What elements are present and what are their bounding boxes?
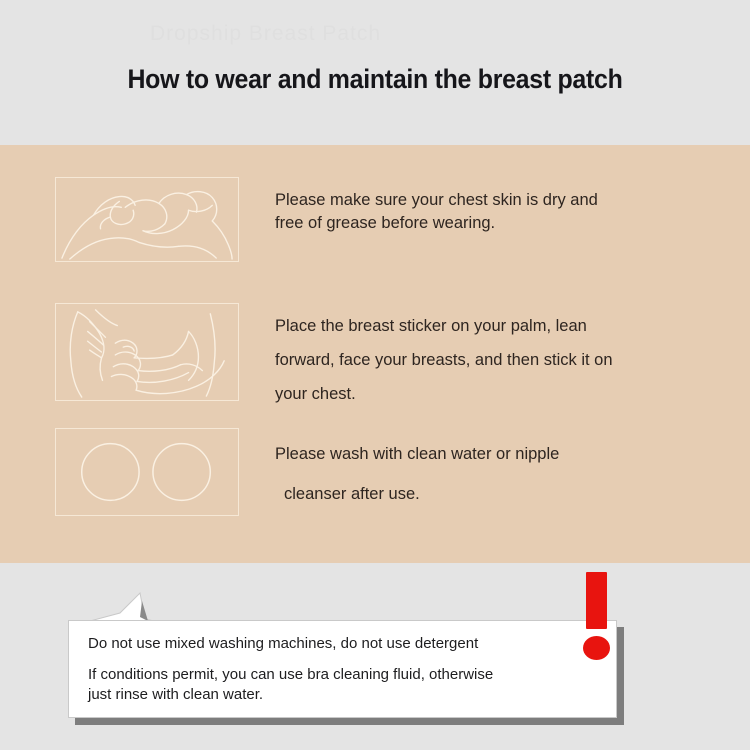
step-figure-frame <box>55 177 239 262</box>
step-description: Please wash with clean water or nipple c… <box>275 434 700 514</box>
step-line: free of grease before wearing. <box>275 212 700 235</box>
page-title: How to wear and maintain the breast patc… <box>23 64 728 95</box>
step-line: Please make sure your chest skin is dry … <box>275 189 700 212</box>
exclamation-mark-icon <box>583 572 613 662</box>
header-section: Dropship Breast Patch How to wear and ma… <box>0 0 750 145</box>
step-description: Place the breast sticker on your palm, l… <box>275 309 700 411</box>
exclamation-dot <box>583 636 610 660</box>
steps-section: Please make sure your chest skin is dry … <box>0 145 750 563</box>
step-line: forward, face your breasts, and then sti… <box>275 343 700 377</box>
step-figure-frame <box>55 428 239 516</box>
step-line: Place the breast sticker on your palm, l… <box>275 309 700 343</box>
lean-forward-applying-illustration <box>56 304 238 400</box>
callout-body: Do not use mixed washing machines, do no… <box>68 620 617 718</box>
warning-text: Do not use mixed washing machines, do no… <box>88 635 593 705</box>
step-line: your chest. <box>275 377 700 411</box>
step-description: Please make sure your chest skin is dry … <box>275 189 700 235</box>
callout-tail <box>90 591 156 622</box>
step-line: Please wash with clean water or nipple <box>275 434 700 474</box>
step-line: cleanser after use. <box>275 474 700 514</box>
warning-line: If conditions permit, you can use bra cl… <box>88 665 593 685</box>
warning-section: Do not use mixed washing machines, do no… <box>0 563 750 750</box>
exclamation-bar <box>586 572 607 629</box>
background-watermark: Dropship Breast Patch <box>150 22 600 66</box>
two-patches-washing-illustration <box>56 429 238 515</box>
hands-applying-patch-illustration <box>56 178 238 261</box>
infographic-page: Dropship Breast Patch How to wear and ma… <box>0 0 750 750</box>
warning-line: just rinse with clean water. <box>88 685 593 705</box>
warning-callout: Do not use mixed washing machines, do no… <box>68 620 617 718</box>
step-figure-frame <box>55 303 239 401</box>
warning-line: Do not use mixed washing machines, do no… <box>88 635 593 653</box>
